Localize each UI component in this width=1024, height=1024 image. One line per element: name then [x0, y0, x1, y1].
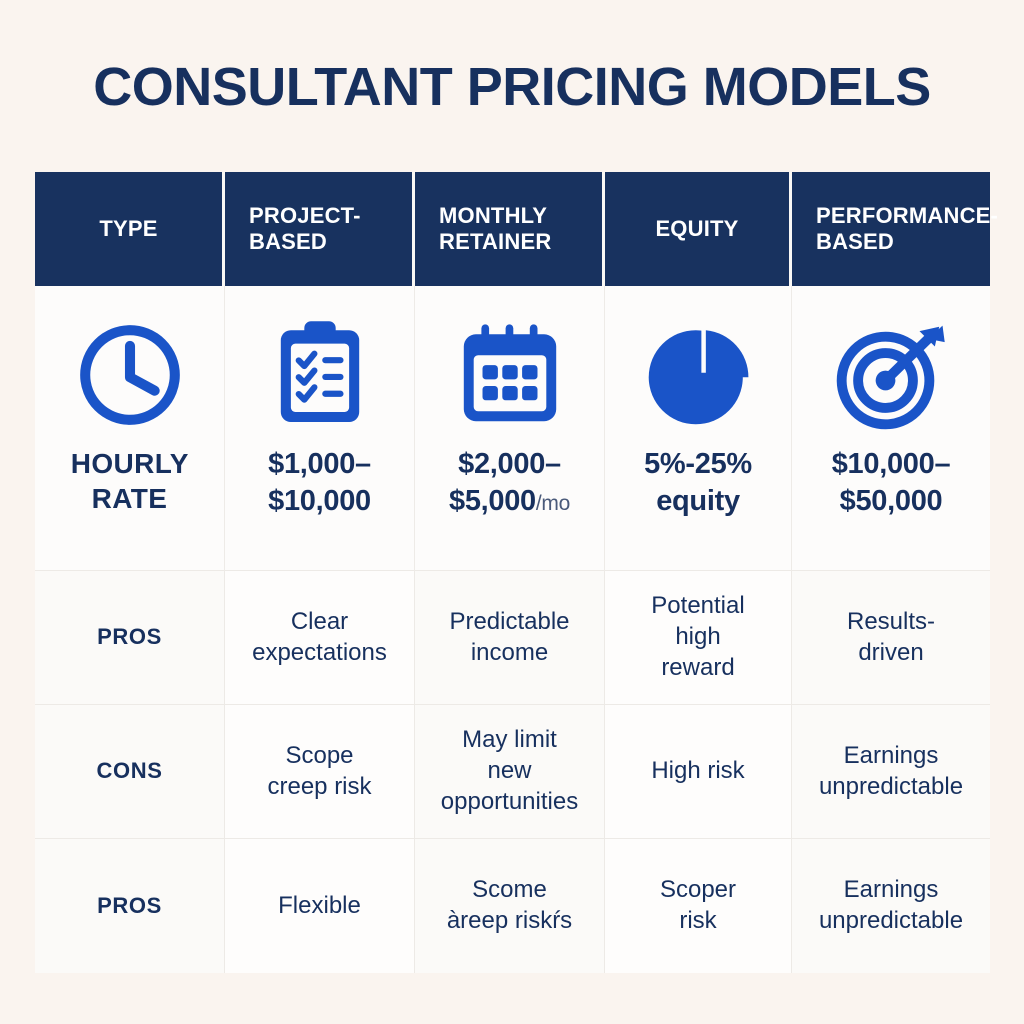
header-cell-performance-based: PERFORMANCE-BASED [792, 172, 990, 286]
clock-icon [74, 316, 186, 434]
row-label-pros-1: PROS [35, 570, 225, 704]
cell-hourly-rate: HOURLY RATE [35, 286, 225, 570]
hourly-rate-value: HOURLY RATE [45, 446, 214, 517]
clipboard-checklist-icon [268, 316, 372, 434]
cell-performance-based-price: $10,000– $50,000 [792, 286, 990, 570]
infographic-page: CONSULTANT PRICING MODELS TYPE PROJECT-B… [0, 0, 1024, 1024]
project-based-price-value: $1,000– $10,000 [235, 446, 404, 519]
pie-chart-icon [642, 316, 754, 434]
cell-pros-project-based: Clear expectations [225, 570, 415, 704]
header-cell-project-based: PROJECT-BASED [225, 172, 415, 286]
header-label: PERFORMANCE-BASED [802, 203, 980, 255]
cell-pros-equity: Potential high reward [605, 570, 792, 704]
page-title: CONSULTANT PRICING MODELS [0, 56, 1024, 118]
per-month-suffix: /mo [536, 492, 570, 515]
table-header-row: TYPE PROJECT-BASED MONTHLY RETAINER EQUI… [35, 172, 990, 286]
table-row: PROS Clear expectations Predictable inco… [35, 570, 990, 704]
target-arrow-icon [834, 316, 948, 434]
row-label-pros-2: PROS [35, 838, 225, 973]
header-label: MONTHLY RETAINER [425, 203, 592, 255]
calendar-icon [455, 316, 565, 434]
cell-monthly-retainer-price: $2,000– $5,000/mo [415, 286, 605, 570]
cell-pros2-monthly-retainer: Scome àreep riskŕs [415, 838, 605, 973]
cell-pros2-performance-based: Earnings unpredictable [792, 838, 990, 973]
equity-value: 5%-25% equity [615, 446, 781, 519]
cell-pros-performance-based: Results- driven [792, 570, 990, 704]
table-row: PROS Flexible Scome àreep riskŕs Scoper … [35, 838, 990, 973]
header-label: PROJECT-BASED [235, 203, 402, 255]
row-label-cons: CONS [35, 704, 225, 838]
header-cell-type: TYPE [35, 172, 225, 286]
cell-cons-project-based: Scope creep risk [225, 704, 415, 838]
cell-cons-performance-based: Earnings unpredictable [792, 704, 990, 838]
table-row: CONS Scope creep risk May limit new oppo… [35, 704, 990, 838]
header-cell-monthly-retainer: MONTHLY RETAINER [415, 172, 605, 286]
table-icon-row: HOURLY RATE [35, 286, 990, 570]
cell-cons-equity: High risk [605, 704, 792, 838]
header-label: TYPE [45, 216, 212, 242]
cell-pros2-equity: Scoper risk [605, 838, 792, 973]
header-label: EQUITY [615, 216, 779, 242]
cell-project-based-price: $1,000– $10,000 [225, 286, 415, 570]
performance-based-price-value: $10,000– $50,000 [802, 446, 980, 519]
cell-cons-monthly-retainer: May limit new opportunities [415, 704, 605, 838]
cell-pros-monthly-retainer: Predictable income [415, 570, 605, 704]
header-cell-equity: EQUITY [605, 172, 792, 286]
pricing-models-table: TYPE PROJECT-BASED MONTHLY RETAINER EQUI… [35, 172, 990, 973]
monthly-retainer-price-value: $2,000– $5,000/mo [425, 446, 594, 519]
cell-pros2-project-based: Flexible [225, 838, 415, 973]
cell-equity-value: 5%-25% equity [605, 286, 792, 570]
